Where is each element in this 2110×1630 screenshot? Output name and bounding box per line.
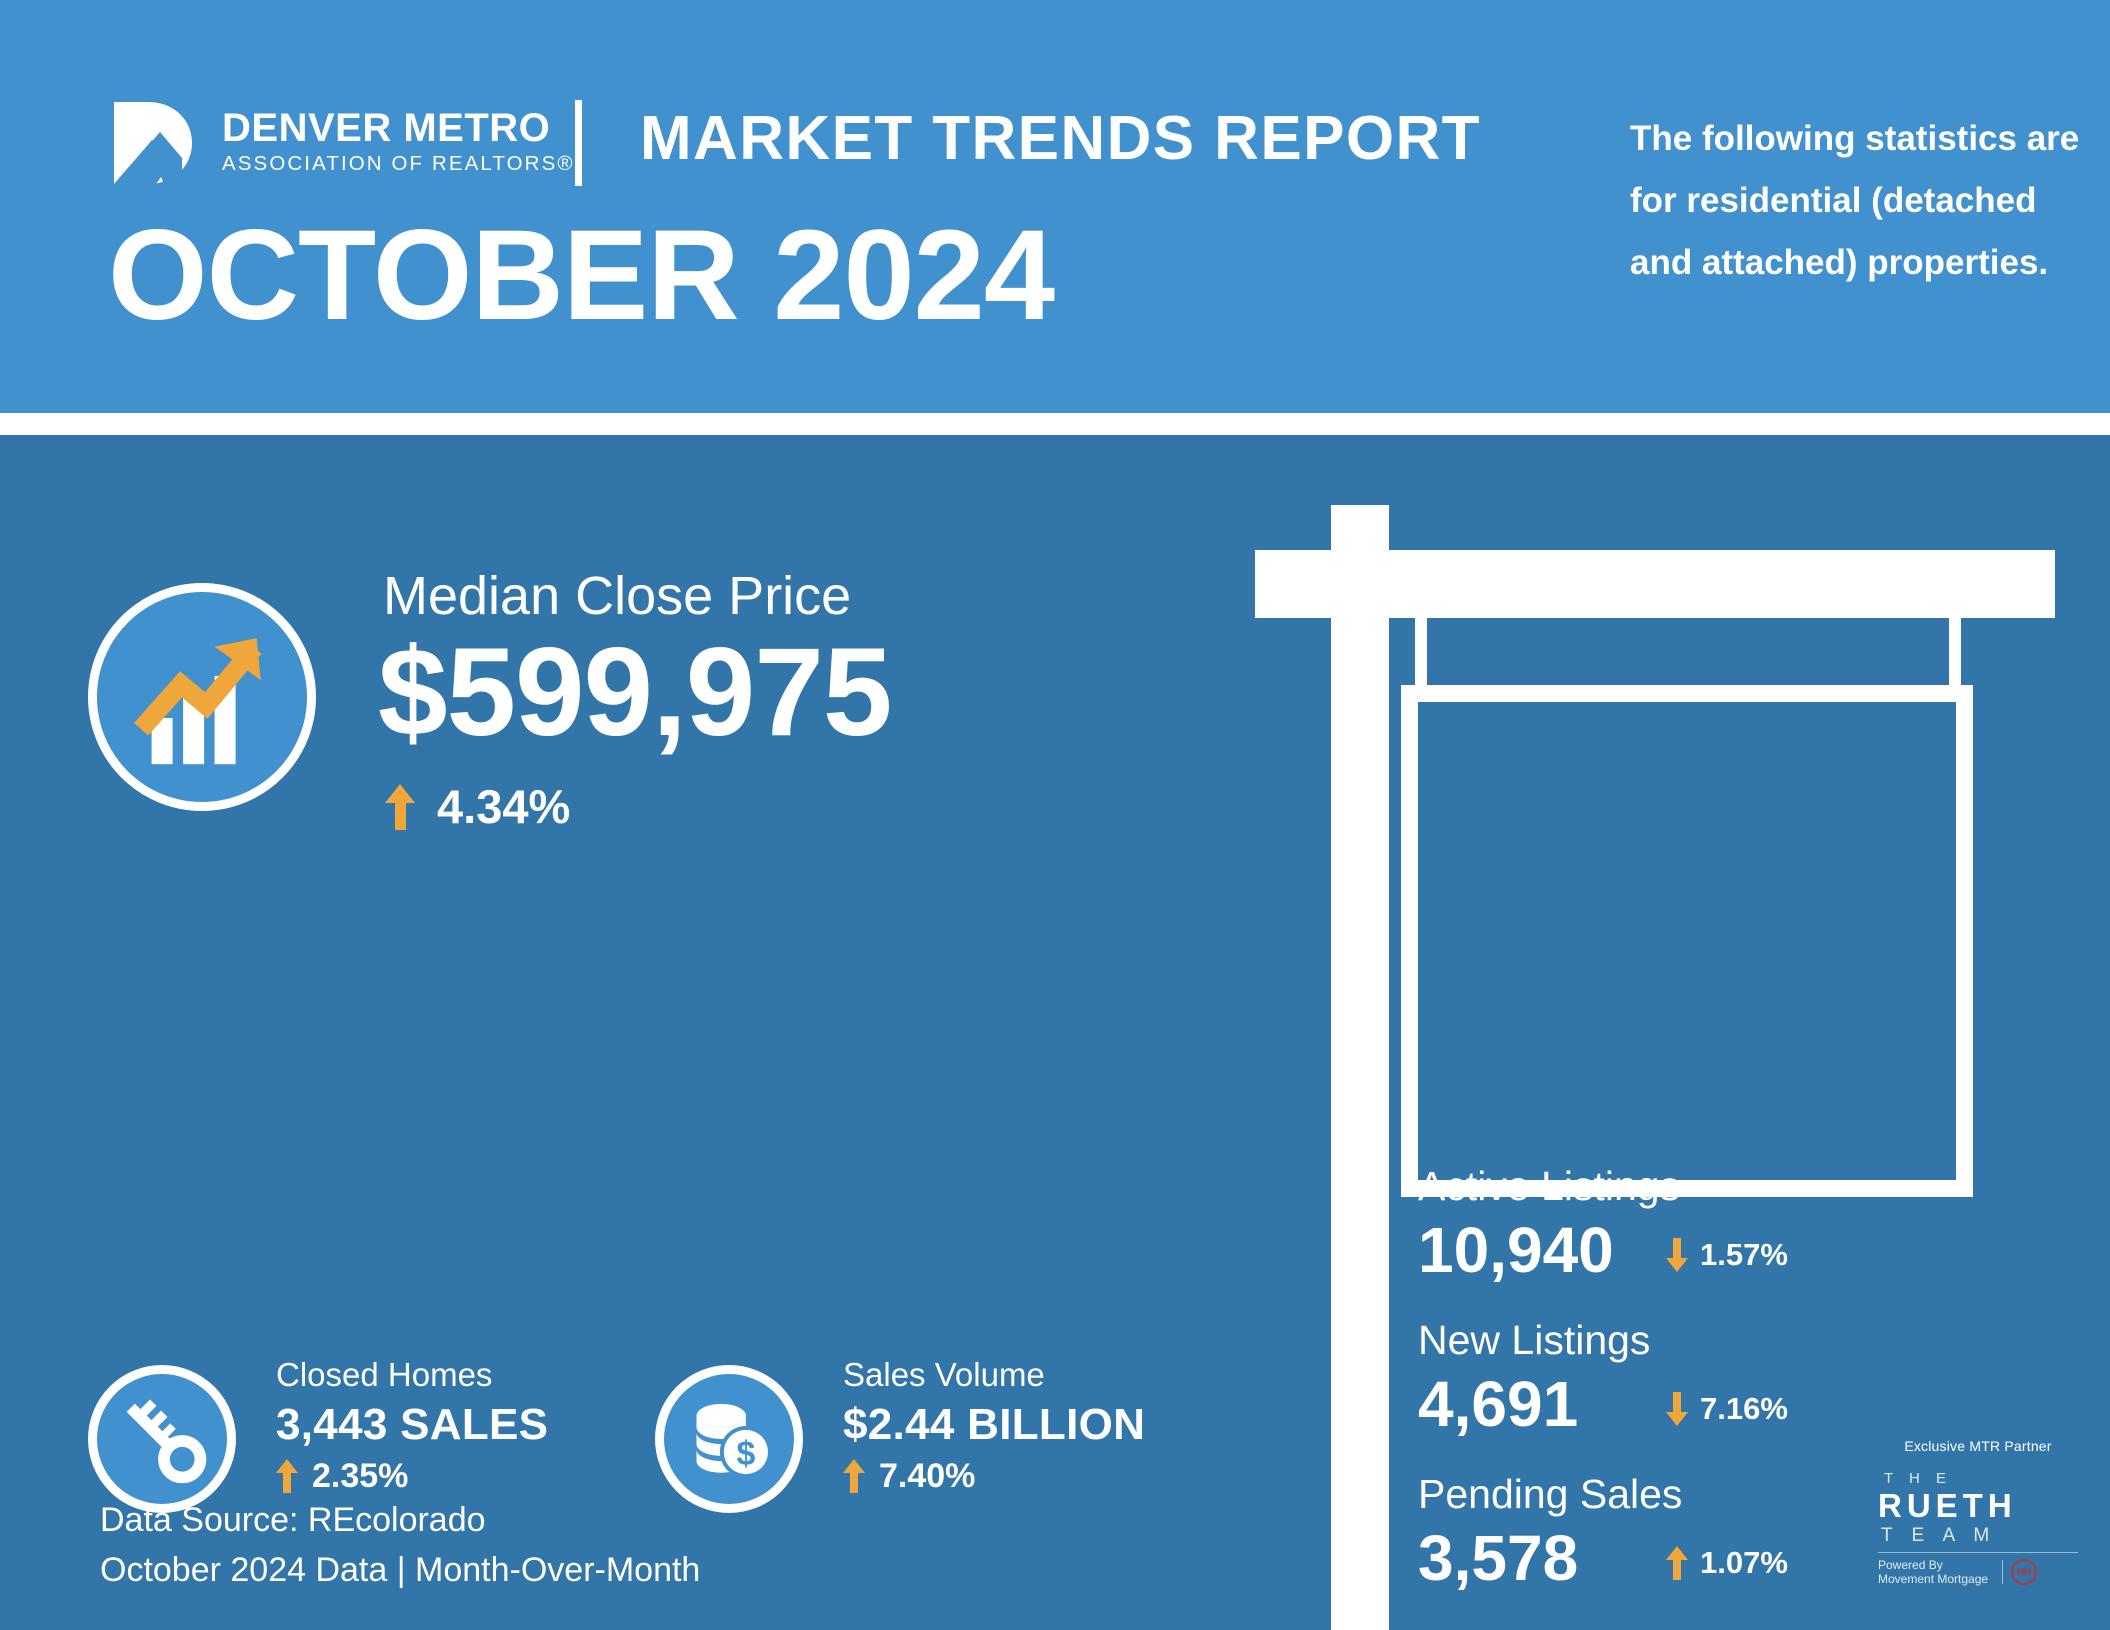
powered-by-separator	[2002, 1560, 2003, 1584]
stat-text: Closed Homes 3,443 SALES 2.35%	[276, 1353, 548, 1499]
growth-chart-icon	[97, 592, 307, 802]
sign-post	[1331, 505, 1389, 1630]
stat-value: 3,443 SALES	[276, 1397, 548, 1453]
rueth-team-text: T E A M	[1878, 1525, 2078, 1547]
data-source-footer: Data Source: REcolorado October 2024 Dat…	[100, 1495, 700, 1595]
sign-stat-label: New Listings	[1418, 1314, 2018, 1366]
median-close-price-delta: 4.34%	[385, 779, 570, 834]
stat-text: Sales Volume $2.44 BILLION 7.40%	[843, 1353, 1145, 1499]
powered-by-text: Powered By Movement Mortgage	[1878, 1558, 1988, 1586]
coins-icon-circle: $	[655, 1365, 803, 1513]
sign-crossbar	[1255, 550, 2055, 618]
sign-stat-label: Active Listings	[1418, 1160, 2018, 1212]
header-note: The following statistics are for residen…	[1630, 108, 2100, 294]
stat-label: Sales Volume	[843, 1353, 1145, 1397]
sign-stat-delta: 1.57%	[1666, 1237, 1788, 1273]
data-source-line1: Data Source: REcolorado	[100, 1495, 700, 1545]
data-source-line2: October 2024 Data | Month-Over-Month	[100, 1545, 700, 1595]
rueth-team-logo: Exclusive MTR Partner T H E RUETH T E A …	[1878, 1438, 2078, 1586]
growth-chart-icon-circle	[88, 583, 316, 811]
report-title: MARKET TRENDS REPORT	[640, 103, 1481, 174]
arrow-up-icon	[276, 1459, 298, 1493]
body-panel: Active Listings 10,940 1.57% New Listing…	[0, 435, 2110, 1630]
stat-delta-text: 2.35%	[312, 1453, 408, 1499]
dmar-logo-mark	[112, 100, 198, 186]
powered-by-row: Powered By Movement Mortgage MM	[1878, 1558, 2078, 1586]
page-title: OCTOBER 2024	[108, 212, 1054, 340]
sign-stat-active-listings: Active Listings 10,940 1.57%	[1418, 1160, 2018, 1288]
stat-delta-text: 7.40%	[879, 1453, 975, 1499]
arrow-down-icon	[1666, 1392, 1688, 1426]
header-body-divider	[0, 413, 2110, 435]
stat-delta: 7.40%	[843, 1453, 1145, 1499]
sign-stat-delta-text: 1.57%	[1700, 1237, 1788, 1273]
arrow-up-icon	[1666, 1546, 1688, 1580]
sign-stat-value: 3,578	[1418, 1520, 1666, 1596]
stat-value: $2.44 BILLION	[843, 1397, 1145, 1453]
sign-stat-row: 4,691 7.16%	[1418, 1366, 2018, 1442]
header-divider-pipe	[575, 100, 582, 186]
exclusive-partner-tagline: Exclusive MTR Partner	[1878, 1438, 2078, 1454]
rueth-name-text: RUETH	[1878, 1487, 2078, 1525]
key-icon	[97, 1374, 227, 1504]
sign-stat-delta-text: 1.07%	[1700, 1545, 1788, 1581]
rueth-the-text: T H E	[1878, 1470, 2078, 1487]
dmar-logo: DENVER METRO ASSOCIATION OF REALTORS®	[112, 100, 532, 188]
market-trends-report-infographic: DENVER METRO ASSOCIATION OF REALTORS® MA…	[0, 0, 2110, 1630]
sign-stat-row: 10,940 1.57%	[1418, 1212, 2018, 1288]
coins-icon: $	[664, 1374, 794, 1504]
svg-text:$: $	[737, 1435, 756, 1473]
header-banner: DENVER METRO ASSOCIATION OF REALTORS® MA…	[0, 0, 2110, 413]
sign-stat-delta-text: 7.16%	[1700, 1391, 1788, 1427]
movement-mortgage-icon: MM	[2011, 1559, 2037, 1585]
dmar-org-subtitle: ASSOCIATION OF REALTORS®	[222, 150, 532, 178]
sign-stat-value: 4,691	[1418, 1366, 1666, 1442]
median-close-price-value: $599,975	[378, 623, 891, 763]
sign-stat-value: 10,940	[1418, 1212, 1666, 1288]
arrow-down-icon	[1666, 1238, 1688, 1272]
key-icon-circle	[88, 1365, 236, 1513]
stat-delta: 2.35%	[276, 1453, 548, 1499]
rueth-divider	[1878, 1552, 2078, 1553]
dmar-wordmark: DENVER METRO ASSOCIATION OF REALTORS®	[222, 106, 532, 178]
sign-stat-new-listings: New Listings 4,691 7.16%	[1418, 1314, 2018, 1442]
arrow-up-icon	[385, 784, 415, 830]
sign-stat-delta: 7.16%	[1666, 1391, 1788, 1427]
median-close-price-delta-text: 4.34%	[437, 779, 570, 834]
dmar-org-name: DENVER METRO	[222, 106, 532, 150]
stat-label: Closed Homes	[276, 1353, 548, 1397]
median-close-price-label: Median Close Price	[383, 565, 851, 627]
sign-board-inner	[1418, 702, 1956, 1180]
arrow-up-icon	[843, 1459, 865, 1493]
sign-stat-delta: 1.07%	[1666, 1545, 1788, 1581]
